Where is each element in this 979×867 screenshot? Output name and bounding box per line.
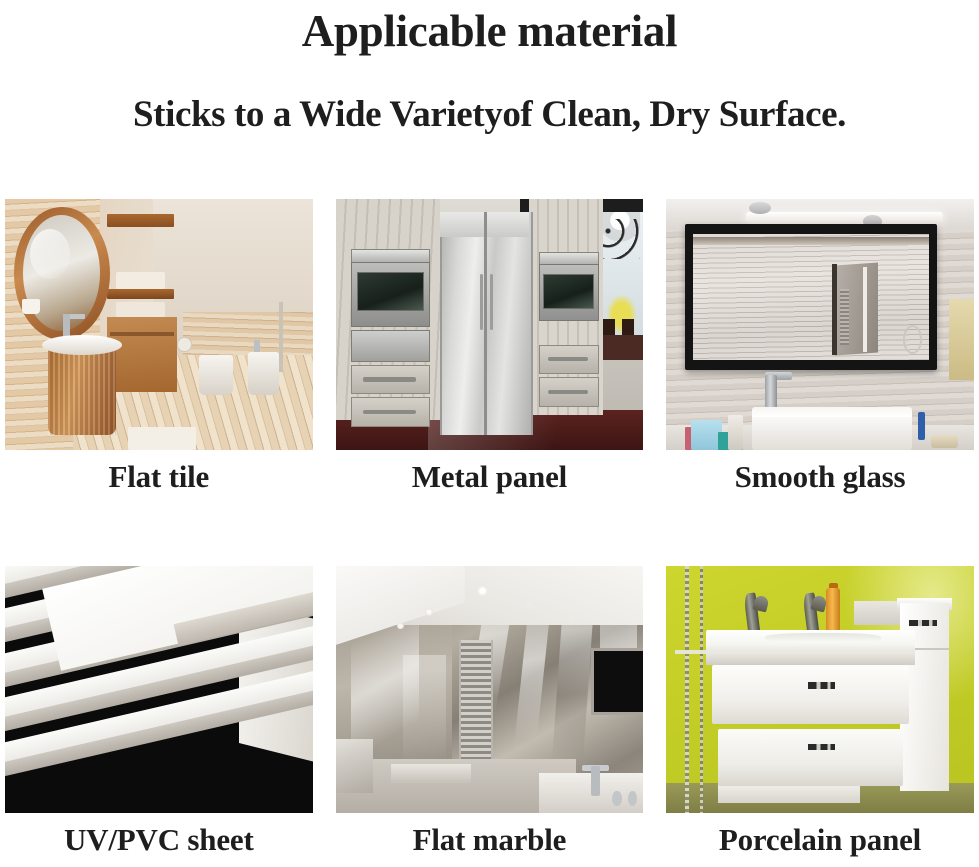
photo-flat-marble	[336, 566, 644, 813]
wall-panel-icon	[591, 648, 643, 716]
material-card-porcelain-panel: Porcelain panel	[666, 566, 974, 867]
material-row-2: UV/PVC sheet	[5, 566, 974, 867]
caption-metal-panel: Metal panel	[336, 450, 644, 504]
photo-flat-tile	[5, 199, 313, 450]
photo-uv-pvc-sheet	[5, 566, 313, 813]
material-card-flat-tile: Flat tile	[5, 199, 313, 504]
photo-smooth-glass	[666, 199, 974, 450]
material-card-metal-panel: Metal panel	[336, 199, 644, 504]
caption-uv-pvc-sheet: UV/PVC sheet	[5, 813, 313, 867]
material-card-flat-marble: Flat marble	[336, 566, 644, 867]
material-row-1: Flat tile	[5, 199, 974, 504]
material-grid: Flat tile	[5, 199, 974, 867]
caption-smooth-glass: Smooth glass	[666, 450, 974, 504]
page-title: Applicable material	[0, 0, 979, 62]
material-card-smooth-glass: Smooth glass	[666, 199, 974, 504]
infographic-page: Applicable material Sticks to a Wide Var…	[0, 0, 979, 817]
caption-flat-tile: Flat tile	[5, 450, 313, 504]
page-subtitle: Sticks to a Wide Varietyof Clean, Dry Su…	[0, 88, 979, 140]
caption-flat-marble: Flat marble	[336, 813, 644, 867]
towel-radiator-icon	[459, 640, 494, 768]
caption-porcelain-panel: Porcelain panel	[666, 813, 974, 867]
material-card-uv-pvc-sheet: UV/PVC sheet	[5, 566, 313, 867]
photo-metal-panel	[336, 199, 644, 450]
photo-porcelain-panel	[666, 566, 974, 813]
